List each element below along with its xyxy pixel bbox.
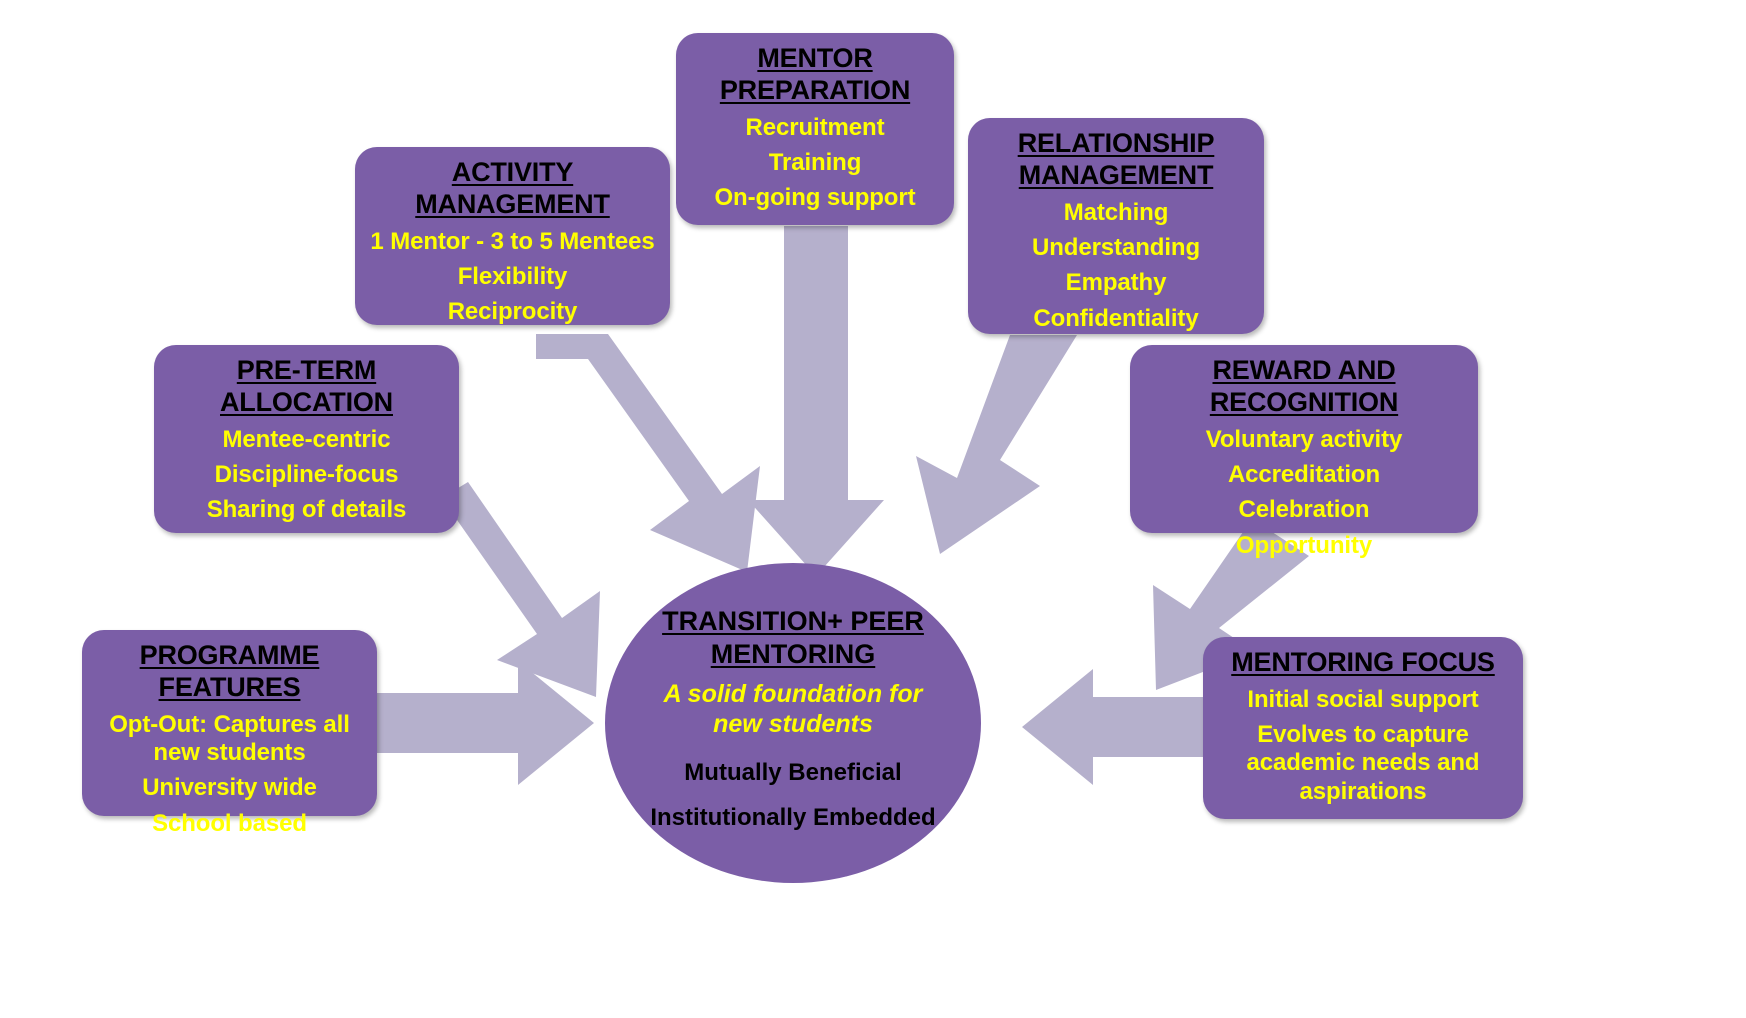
node-title: MENTORING FOCUS [1217,647,1509,679]
node-item: Opt-Out: Captures all new students [96,711,363,768]
node-item: Matching [982,199,1250,227]
center-tagline: A solid foundation for new students [639,679,947,739]
node-item: Training [690,149,940,177]
arrow-focus-to-center [1022,669,1203,785]
node-title: ACTIVITY MANAGEMENT [369,157,656,221]
node-item: Celebration [1144,496,1464,524]
node-pre-term-allocation[interactable]: PRE-TERM ALLOCATION Mentee-centric Disci… [154,345,459,533]
node-item: Understanding [982,234,1250,262]
node-item: Recruitment [690,114,940,142]
node-mentoring-focus[interactable]: MENTORING FOCUS Initial social support E… [1203,637,1523,819]
node-title: REWARD AND RECOGNITION [1144,355,1464,419]
node-item: Accreditation [1144,461,1464,489]
node-item: School based [96,810,363,838]
node-title: PRE-TERM ALLOCATION [168,355,445,419]
arrow-activity-to-center [536,334,760,572]
node-item: Flexibility [369,263,656,291]
diagram-canvas: MENTOR PREPARATION Recruitment Training … [0,0,1746,1018]
node-item: 1 Mentor - 3 to 5 Mentees [369,228,656,256]
node-item: University wide [96,774,363,802]
node-title: RELATIONSHIP MANAGEMENT [982,128,1250,192]
node-relationship-management[interactable]: RELATIONSHIP MANAGEMENT Matching Underst… [968,118,1264,334]
node-activity-management[interactable]: ACTIVITY MANAGEMENT 1 Mentor - 3 to 5 Me… [355,147,670,325]
node-title: MENTOR PREPARATION [690,43,940,107]
node-item: Empathy [982,269,1250,297]
center-item: Mutually Beneficial [684,759,901,788]
node-item: Discipline-focus [168,461,445,489]
center-node-transition-peer-mentoring[interactable]: TRANSITION+ PEER MENTORING A solid found… [605,563,981,883]
node-title: PROGRAMME FEATURES [96,640,363,704]
node-item: Opportunity [1144,532,1464,560]
node-mentor-preparation[interactable]: MENTOR PREPARATION Recruitment Training … [676,33,954,225]
node-item: Confidentiality [982,305,1250,333]
arrow-mentor-prep-to-center [748,226,884,576]
center-title: TRANSITION+ PEER MENTORING [639,605,947,670]
node-item: Reciprocity [369,298,656,326]
center-item: Institutionally Embedded [650,804,935,833]
node-item: Sharing of details [168,496,445,524]
node-item: Initial social support [1217,686,1509,714]
node-item: On-going support [690,184,940,212]
node-reward-and-recognition[interactable]: REWARD AND RECOGNITION Voluntary activit… [1130,345,1478,533]
node-item: Voluntary activity [1144,426,1464,454]
node-item: Mentee-centric [168,426,445,454]
node-programme-features[interactable]: PROGRAMME FEATURES Opt-Out: Captures all… [82,630,377,816]
node-item: Evolves to capture academic needs and as… [1217,721,1509,806]
arrow-relationship-to-center [916,335,1077,554]
